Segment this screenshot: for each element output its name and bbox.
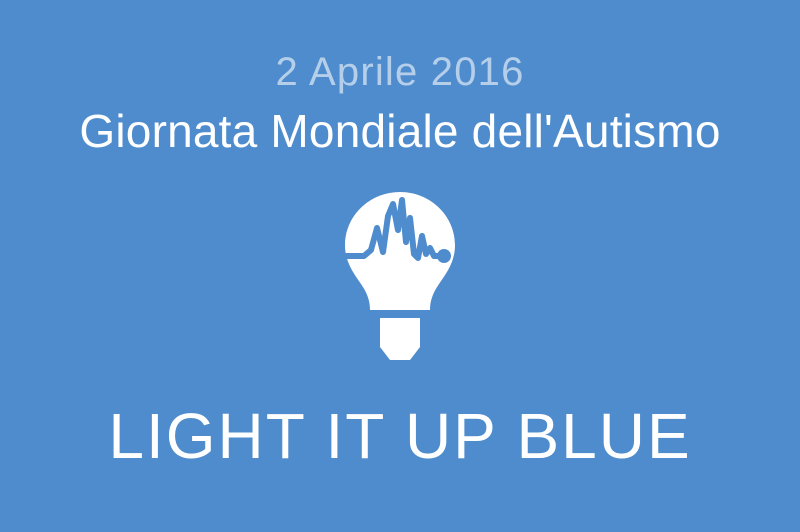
tagline: LIGHT IT UP BLUE bbox=[0, 404, 800, 468]
event-date: 2 Aprile 2016 bbox=[0, 52, 800, 92]
awareness-poster: 2 Aprile 2016 Giornata Mondiale dell'Aut… bbox=[0, 0, 800, 532]
page-title: Giornata Mondiale dell'Autismo bbox=[0, 106, 800, 157]
lightbulb-waveform-icon bbox=[338, 192, 462, 364]
